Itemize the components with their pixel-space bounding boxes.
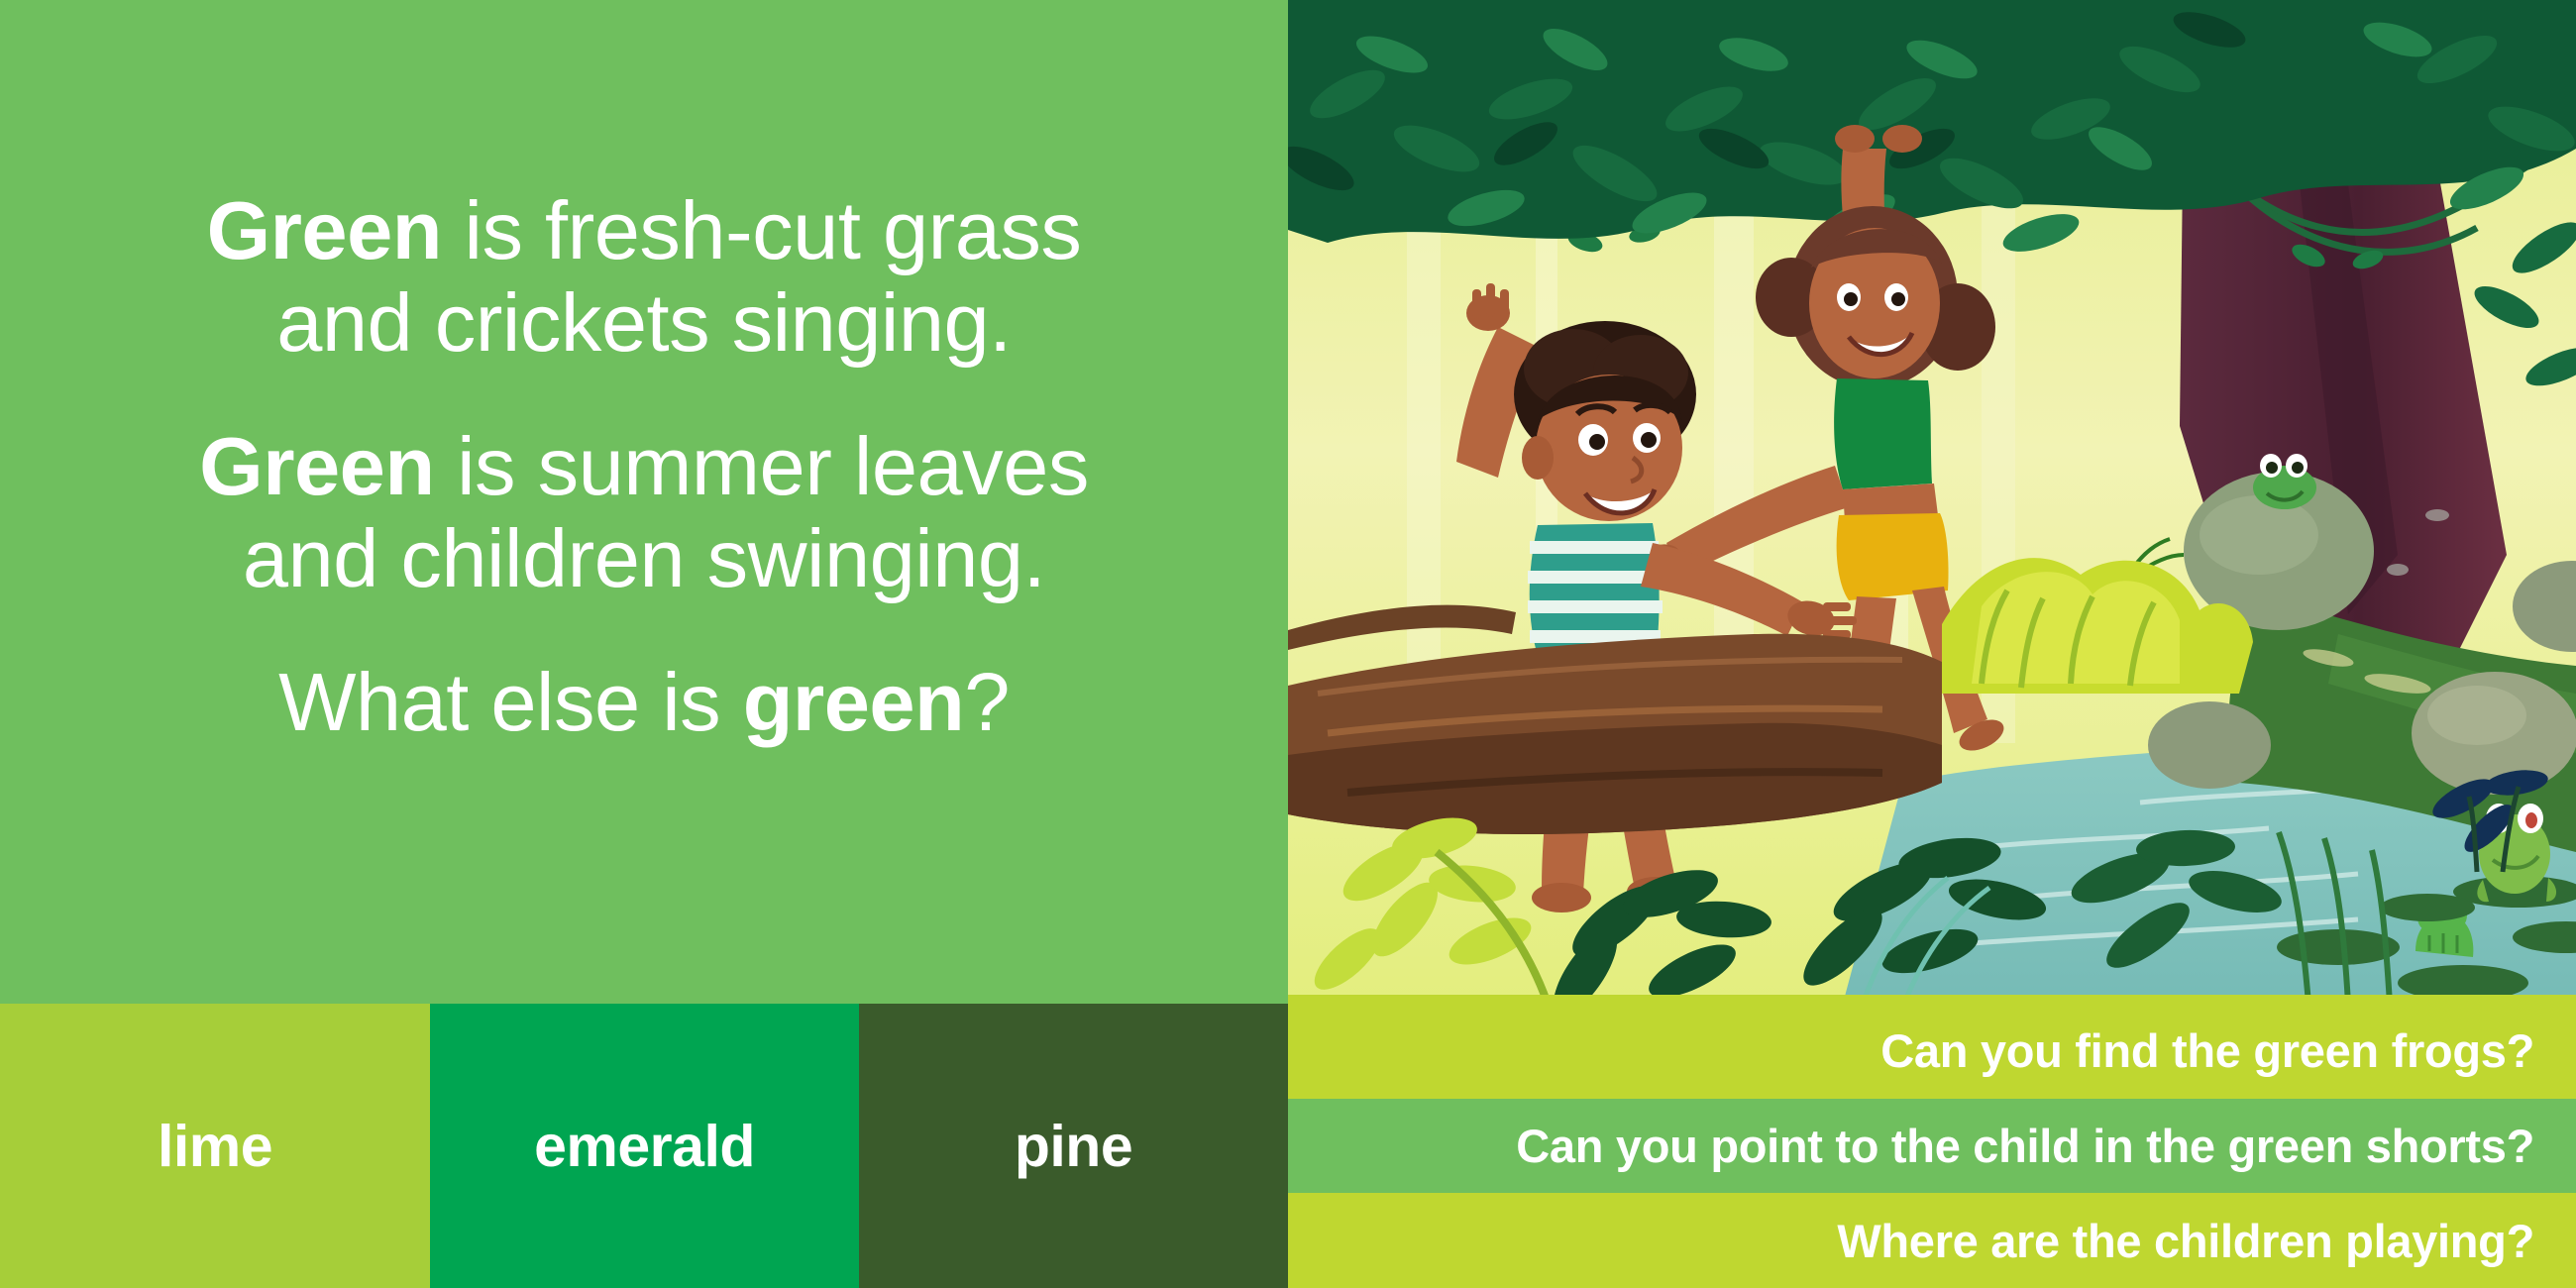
question-3-label: Where are the children playing?: [1837, 1214, 2534, 1268]
question-1-label: Can you find the green frogs?: [1880, 1023, 2534, 1078]
verse-1-rest: is fresh-cut grass: [442, 184, 1081, 276]
verse-1-bold-word: Green: [207, 184, 442, 276]
scene-illustration: [1288, 0, 2576, 1004]
swatch-lime-label: lime: [158, 1113, 272, 1180]
verse-question: What else is green?: [278, 657, 1010, 749]
swatch-emerald-label: emerald: [534, 1113, 755, 1180]
swatch-lime[interactable]: lime: [0, 1004, 430, 1288]
verse-line-2: Green is summer leavesand children swing…: [199, 421, 1089, 605]
question-suffix: ?: [964, 656, 1010, 748]
swatch-pine-label: pine: [1015, 1113, 1132, 1180]
verse-text-panel: Green is fresh-cut grassand crickets sin…: [0, 0, 1288, 1004]
forest-scene-svg: [1288, 0, 2576, 1004]
question-bar-2[interactable]: Can you point to the child in the green …: [1288, 1099, 2576, 1194]
swatch-pine[interactable]: pine: [859, 1004, 1288, 1288]
question-bar-1[interactable]: Can you find the green frogs?: [1288, 1004, 2576, 1099]
verse-2b: and children swinging.: [243, 512, 1045, 604]
question-prompt-strip: Can you find the green frogs? Can you po…: [1288, 1004, 2576, 1288]
swatch-emerald[interactable]: emerald: [430, 1004, 859, 1288]
question-bar-3[interactable]: Where are the children playing?: [1288, 1193, 2576, 1288]
illustration-bottom-edge: [1288, 995, 2576, 1004]
book-page-spread: Green is fresh-cut grassand crickets sin…: [0, 0, 2576, 1288]
verse-2-bold-word: Green: [199, 420, 434, 512]
verse-1b: and crickets singing.: [276, 276, 1012, 369]
question-prefix: What else is: [278, 656, 743, 748]
question-bold-word: green: [743, 656, 965, 748]
question-2-label: Can you point to the child in the green …: [1516, 1119, 2534, 1173]
verse-line-1: Green is fresh-cut grassand crickets sin…: [207, 185, 1082, 370]
verse-2-rest: is summer leaves: [435, 420, 1089, 512]
color-swatch-strip: lime emerald pine: [0, 1004, 1288, 1288]
